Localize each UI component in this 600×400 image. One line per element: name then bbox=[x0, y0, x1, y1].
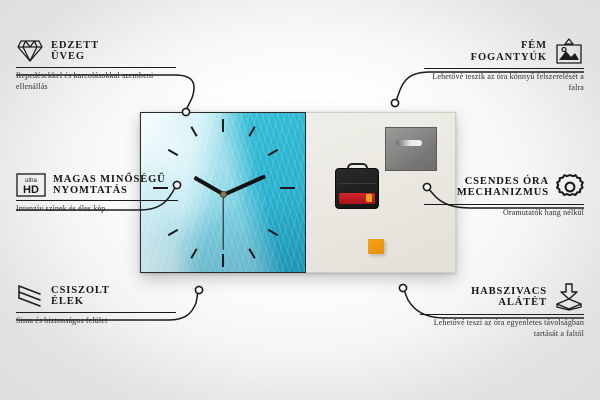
feature-title-line1: FÉM bbox=[471, 40, 547, 51]
foam-pad-icon bbox=[554, 283, 584, 311]
feature-foam-pad: HABSZIVACS ALÁTÉT Lehetővé teszi az óra … bbox=[420, 283, 584, 340]
svg-text:HD: HD bbox=[23, 184, 39, 196]
feature-title: EDZETT ÜVEG bbox=[51, 40, 99, 62]
picture-hanger-icon bbox=[554, 38, 584, 65]
clock-center-pin bbox=[220, 191, 227, 198]
gear-icon bbox=[556, 173, 584, 201]
feature-heading: EDZETT ÜVEG bbox=[16, 38, 176, 64]
feature-heading: HABSZIVACS ALÁTÉT bbox=[420, 283, 584, 311]
feature-title: CSISZOLT ÉLEK bbox=[51, 285, 110, 307]
connector-dot-handles bbox=[391, 99, 398, 106]
feature-title-line2: ÜVEG bbox=[51, 51, 99, 62]
feature-divider bbox=[420, 314, 584, 315]
ultra-hd-icon: ultra HD bbox=[16, 173, 46, 197]
feature-heading: ultra HD MAGAS MINŐSÉGŰ NYOMTATÁS bbox=[16, 173, 178, 197]
feature-title-line1: CSENDES ÓRA bbox=[457, 176, 549, 187]
foam-pad bbox=[368, 239, 384, 254]
infographic-canvas: EDZETT ÜVEG Repedésekkel és karcolásokka… bbox=[0, 0, 600, 400]
feature-high-quality-print: ultra HD MAGAS MINŐSÉGŰ NYOMTATÁS Intenz… bbox=[16, 173, 178, 215]
feature-title-line1: CSISZOLT bbox=[51, 285, 110, 296]
feature-heading: FÉM FOGANTYÚK bbox=[424, 38, 584, 65]
feature-divider bbox=[424, 204, 584, 205]
feature-divider bbox=[16, 67, 176, 68]
feature-title: MAGAS MINŐSÉGŰ NYOMTATÁS bbox=[53, 174, 166, 196]
feature-title-line2: ÉLEK bbox=[51, 296, 110, 307]
polished-edges-icon bbox=[16, 283, 44, 309]
feature-description: Óramutatók hang nélkül bbox=[424, 208, 584, 219]
feature-title-line2: NYOMTATÁS bbox=[53, 185, 166, 196]
feature-description: Repedésekkel és karcolásokkal szembeni e… bbox=[16, 71, 176, 93]
feature-tempered-glass: EDZETT ÜVEG Repedésekkel és karcolásokka… bbox=[16, 38, 176, 93]
feature-heading: CSISZOLT ÉLEK bbox=[16, 283, 176, 309]
feature-divider bbox=[424, 68, 584, 69]
clock-second-hand bbox=[222, 194, 223, 250]
connector-dot-foam bbox=[399, 284, 406, 291]
feature-metal-handles: FÉM FOGANTYÚK Lehetővé teszik az óra kön… bbox=[424, 38, 584, 94]
feature-title-line1: HABSZIVACS bbox=[471, 286, 547, 297]
feature-description: Lehetővé teszik az óra könnyű felszerelé… bbox=[424, 72, 584, 94]
feature-title-line1: EDZETT bbox=[51, 40, 99, 51]
connector-dot-edges bbox=[195, 286, 202, 293]
feature-title: FÉM FOGANTYÚK bbox=[471, 40, 547, 62]
feature-polished-edges: CSISZOLT ÉLEK Sima és biztonságos felüle… bbox=[16, 283, 176, 327]
mechanism-seam bbox=[338, 183, 376, 184]
feature-description: Lehetővé teszi az óra egyenletes távolsá… bbox=[420, 318, 584, 340]
feature-silent-mechanism: CSENDES ÓRA MECHANIZMUS Óramutatók hang … bbox=[424, 173, 584, 219]
feature-divider bbox=[16, 200, 178, 201]
feature-heading: CSENDES ÓRA MECHANIZMUS bbox=[424, 173, 584, 201]
battery bbox=[339, 193, 375, 204]
hanger-slot bbox=[396, 140, 422, 146]
feature-divider bbox=[16, 312, 176, 313]
feature-title: HABSZIVACS ALÁTÉT bbox=[471, 286, 547, 308]
feature-title-line1: MAGAS MINŐSÉGŰ bbox=[53, 174, 166, 185]
feature-title-line2: ALÁTÉT bbox=[471, 297, 547, 308]
clock-mechanism bbox=[335, 168, 379, 209]
battery-terminal bbox=[366, 194, 372, 202]
feature-title: CSENDES ÓRA MECHANIZMUS bbox=[457, 176, 549, 198]
feature-title-line2: MECHANIZMUS bbox=[457, 187, 549, 198]
feature-description: Intenzív színek és éles kép bbox=[16, 204, 178, 215]
feature-title-line2: FOGANTYÚK bbox=[471, 52, 547, 63]
metal-hanger-bracket bbox=[385, 127, 437, 171]
diamond-icon bbox=[16, 38, 44, 64]
feature-description: Sima és biztonságos felület bbox=[16, 316, 176, 327]
product-image bbox=[140, 112, 456, 273]
mechanism-hook bbox=[347, 163, 368, 174]
